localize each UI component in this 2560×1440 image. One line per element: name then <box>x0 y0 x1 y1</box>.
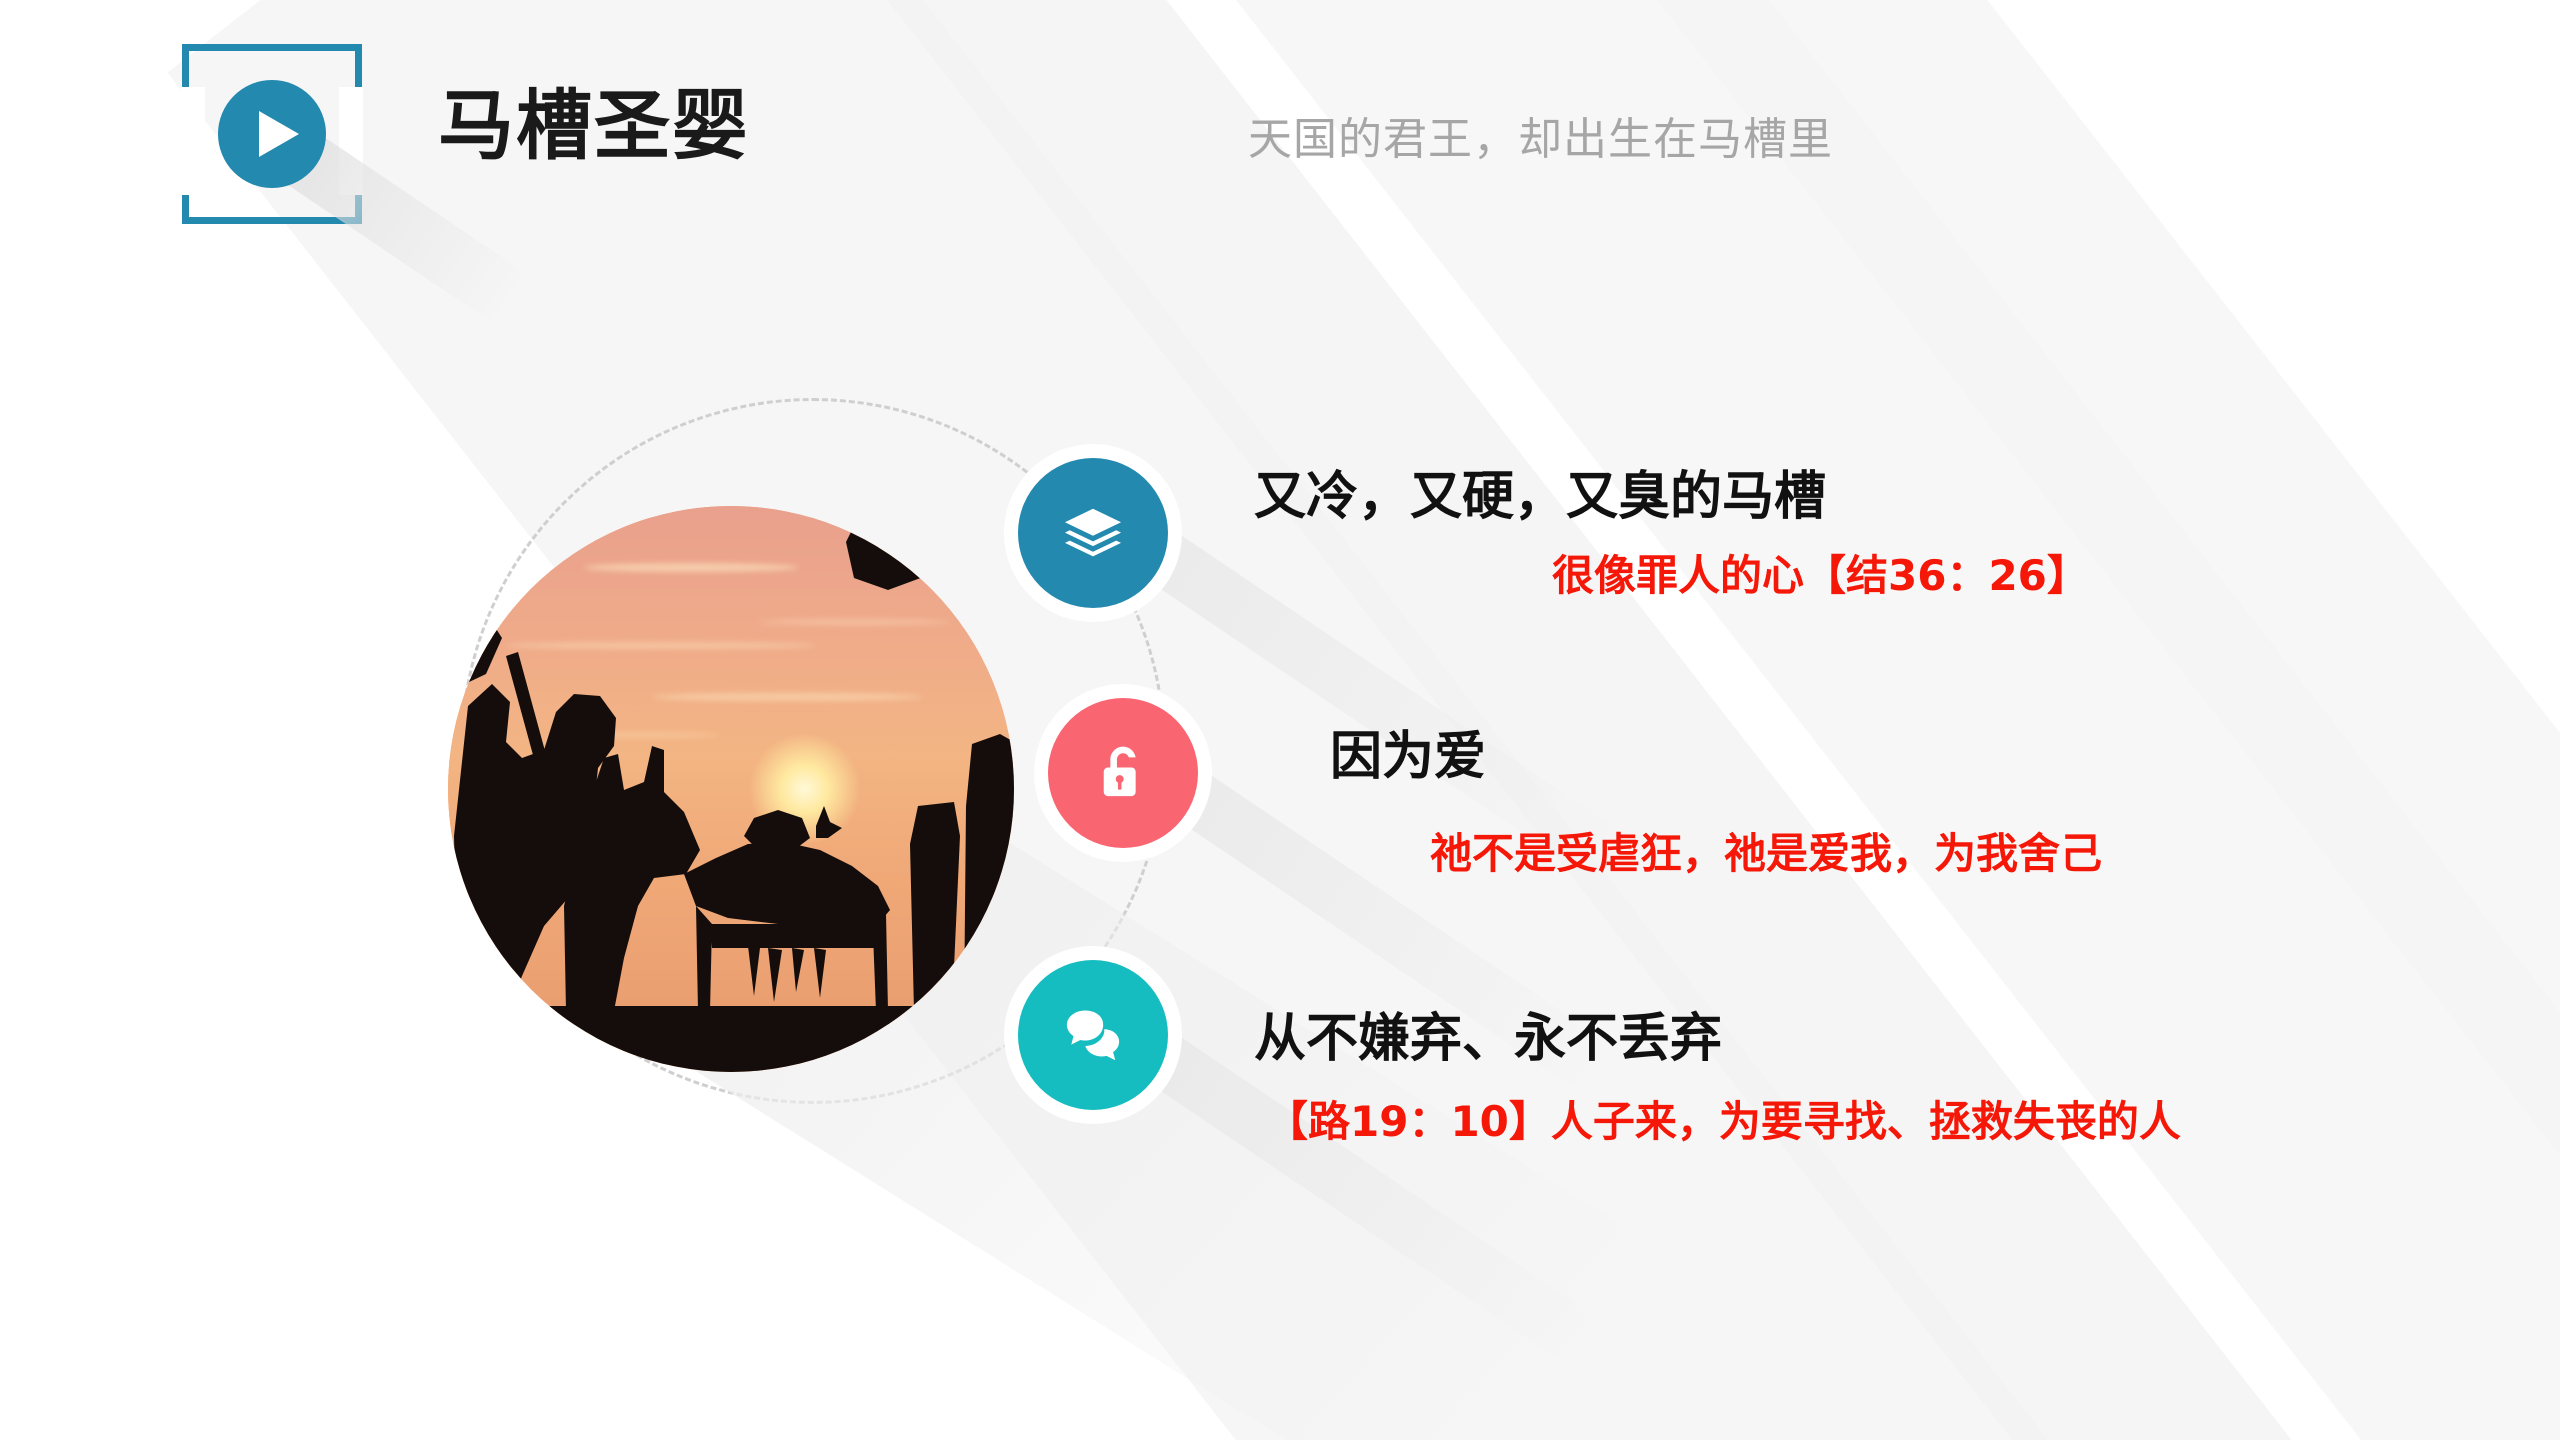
row-1-heading: 又冷，又硬，又臭的马槽 <box>1254 468 2434 527</box>
layers-icon-bubble[interactable] <box>1018 458 1168 608</box>
content-row-1: 又冷，又硬，又臭的马槽 很像罪人的心【结36：26】 <box>1254 468 2434 604</box>
chat-bubbles-icon-bubble[interactable] <box>1018 960 1168 1110</box>
nativity-silhouette <box>448 506 1014 1072</box>
nativity-photo <box>448 506 1014 1072</box>
row-2-heading: 因为爱 <box>1330 728 2510 787</box>
unlock-icon-bubble[interactable] <box>1048 698 1198 848</box>
slide-canvas: 马槽圣婴 天国的君王，却出生在马槽里 <box>0 0 2560 1440</box>
layers-icon <box>1060 500 1126 566</box>
row-3-heading: 从不嫌弃、永不丢弃 <box>1254 1010 2404 1069</box>
row-1-subtext: 很像罪人的心【结36：26】 <box>1552 549 2434 604</box>
unlock-icon <box>1090 740 1156 806</box>
content-row-2: 因为爱 祂不是受虐狂，祂是爱我，为我舍己 <box>1330 728 2510 882</box>
content-row-3: 从不嫌弃、永不丢弃 【路19：10】人子来，为要寻找、拯救失丧的人 <box>1254 1010 2404 1150</box>
slide-header: 马槽圣婴 天国的君王，却出生在马槽里 <box>0 0 2560 250</box>
row-3-subtext: 【路19：10】人子来，为要寻找、拯救失丧的人 <box>1266 1095 2404 1150</box>
page-title: 马槽圣婴 <box>438 88 750 164</box>
logo-mark <box>182 44 362 224</box>
row-2-subtext: 祂不是受虐狂，祂是爱我，为我舍己 <box>1430 827 2510 882</box>
page-subtitle: 天国的君王，却出生在马槽里 <box>1248 118 1833 162</box>
chat-bubbles-icon <box>1060 1002 1126 1068</box>
play-button-icon <box>218 80 326 188</box>
